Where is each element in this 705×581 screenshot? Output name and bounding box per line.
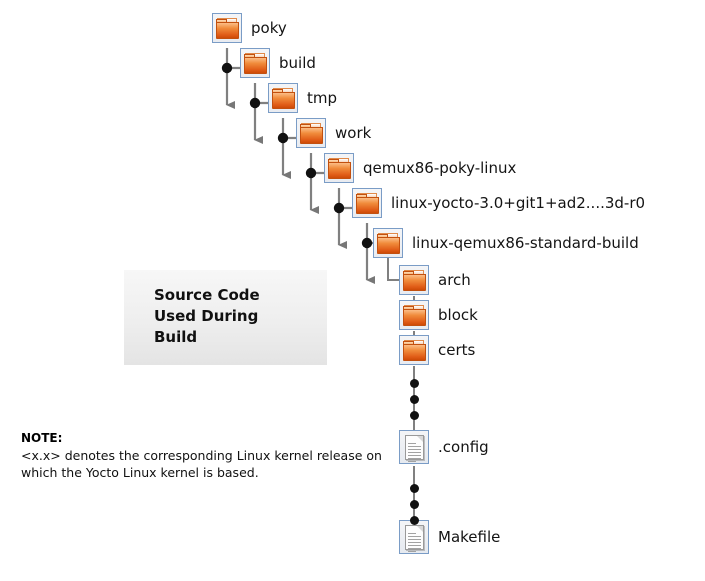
tree-node-label: block — [438, 308, 478, 323]
directory-tree-diagram: poky build tmp work qemux86-poky-linux l… — [0, 0, 705, 581]
note-line-2: which the Yocto Linux kernel is based. — [21, 464, 391, 481]
tree-node-label: linux-qemux86-standard-build — [412, 236, 639, 251]
tree-node-label: qemux86-poky-linux — [363, 161, 516, 176]
tree-node-label: .config — [438, 440, 489, 455]
tree-node-build[interactable]: build — [240, 48, 316, 78]
tree-node-arch[interactable]: arch — [399, 265, 471, 295]
folder-icon — [268, 83, 298, 113]
tree-node-label: poky — [251, 21, 287, 36]
folder-icon — [373, 228, 403, 258]
tree-node-label: build — [279, 56, 316, 71]
note-line-1: <x.x> denotes the corresponding Linux ke… — [21, 447, 391, 464]
callout-line-3: Build — [154, 327, 260, 348]
folder-icon — [212, 13, 242, 43]
callout-line-1: Source Code — [154, 285, 260, 306]
tree-node-config-file[interactable]: .config — [399, 430, 489, 464]
tree-node-label: work — [335, 126, 371, 141]
folder-icon — [399, 335, 429, 365]
connector-layer — [0, 0, 705, 581]
tree-node-label: arch — [438, 273, 471, 288]
tree-node-linux-yocto[interactable]: linux-yocto-3.0+git1+ad2....3d-r0 — [352, 188, 645, 218]
note-block: NOTE: <x.x> denotes the corresponding Li… — [21, 430, 391, 481]
ellipsis-after-config — [410, 484, 419, 532]
folder-icon — [324, 153, 354, 183]
note-title: NOTE: — [21, 430, 391, 446]
tree-node-linux-qemux86-standard-build[interactable]: linux-qemux86-standard-build — [373, 228, 639, 258]
file-icon — [399, 430, 429, 464]
folder-icon — [352, 188, 382, 218]
folder-icon — [296, 118, 326, 148]
note-body: <x.x> denotes the corresponding Linux ke… — [21, 447, 391, 481]
tree-node-certs[interactable]: certs — [399, 335, 475, 365]
tree-node-qemux86-poky-linux[interactable]: qemux86-poky-linux — [324, 153, 516, 183]
tree-node-work[interactable]: work — [296, 118, 371, 148]
tree-node-label: Makefile — [438, 530, 500, 545]
tree-node-tmp[interactable]: tmp — [268, 83, 337, 113]
folder-icon — [399, 300, 429, 330]
callout-line-2: Used During — [154, 306, 260, 327]
tree-node-block[interactable]: block — [399, 300, 478, 330]
folder-icon — [240, 48, 270, 78]
tree-node-poky[interactable]: poky — [212, 13, 287, 43]
callout-text: Source Code Used During Build — [154, 285, 260, 348]
folder-icon — [399, 265, 429, 295]
ellipsis-after-certs — [410, 379, 419, 427]
source-code-callout-box: Source Code Used During Build — [124, 270, 327, 365]
tree-node-label: certs — [438, 343, 475, 358]
tree-node-label: tmp — [307, 91, 337, 106]
tree-node-label: linux-yocto-3.0+git1+ad2....3d-r0 — [391, 196, 645, 211]
